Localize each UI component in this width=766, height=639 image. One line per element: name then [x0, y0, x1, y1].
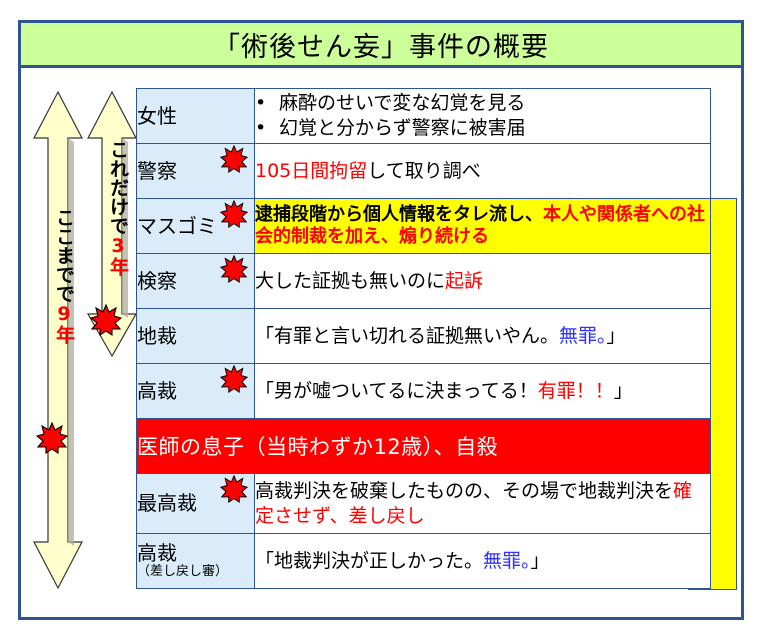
table-row: 最高裁高裁判決を破棄したものの、その場で地裁判決を確定させず、差し戻し — [137, 474, 711, 534]
table-row: 警察105日間拘留して取り調べ — [137, 144, 711, 199]
table-row: 高裁「男が嘘ついてるに決まってる！有罪！！」 — [137, 364, 711, 419]
text-segment: 「有罪と言い切れる証拠無いやん。 — [255, 325, 559, 347]
text-segment: 逮捕段階から個人情報をタレ流し、 — [255, 204, 543, 225]
text-segment: 」 — [607, 325, 626, 347]
row-content: 「地裁判決が正しかった。無罪。」 — [255, 534, 711, 589]
text-segment: 無罪。 — [483, 550, 531, 572]
title-band: 「術後せん妄」事件の概要 — [21, 23, 741, 68]
infographic-root: 「術後せん妄」事件の概要 ここまでで9年 これだけで3年 女性•麻酔のせいで変な… — [0, 0, 766, 639]
text-segment: 有罪！！ — [538, 380, 614, 402]
case-timeline-table: 女性•麻酔のせいで変な幻覚を見る•幻覚と分からず警察に被害届警察105日間拘留し… — [136, 88, 711, 589]
row-label-main: 高裁 — [137, 542, 254, 565]
table-row: 医師の息子（当時わずか12歳）、自殺 — [137, 419, 711, 474]
row-label-main: 最高裁 — [137, 492, 254, 515]
row-content: 逮捕段階から個人情報をタレ流し、本人や関係者への社会的制裁を加え、煽り続ける — [255, 199, 711, 254]
this-alone-label-number: 3 — [107, 235, 129, 257]
row-label-sub: （差し戻し審） — [137, 565, 254, 579]
text-segment: 無罪。 — [559, 325, 607, 347]
row-content: 高裁判決を破棄したものの、その場で地裁判決を確定させず、差し戻し — [255, 474, 711, 534]
page-title: 「術後せん妄」事件の概要 — [213, 25, 549, 64]
text-segment: 大した証拠も無いのに — [255, 270, 445, 292]
row-label-main: 女性 — [137, 105, 254, 128]
bullet-text: 幻覚と分からず警察に被害届 — [279, 117, 526, 139]
text-segment: 105日間拘留 — [255, 160, 367, 182]
row-label-main: 地裁 — [137, 325, 254, 348]
row-label-女性: 女性 — [137, 89, 255, 144]
text-segment: 高裁判決を破棄したものの、その場で地裁判決を — [255, 480, 673, 502]
table-row: 高裁（差し戻し審）「地裁判決が正しかった。無罪。」 — [137, 534, 711, 589]
text-segment: 起訴 — [445, 270, 483, 292]
row-label-高裁: 高裁（差し戻し審） — [137, 534, 255, 589]
row-label-マスゴミ: マスゴミ — [137, 199, 255, 254]
row-content: •麻酔のせいで変な幻覚を見る•幻覚と分からず警察に被害届 — [255, 89, 711, 144]
bullet-marker: • — [255, 116, 279, 141]
case-timeline-body: 女性•麻酔のせいで変な幻覚を見る•幻覚と分からず警察に被害届警察105日間拘留し… — [137, 89, 711, 589]
row-content: 大した証拠も無いのに起訴 — [255, 254, 711, 309]
this-alone-3-years-label: これだけで3年 — [97, 140, 127, 276]
bullet-text: 麻酔のせいで変な幻覚を見る — [279, 92, 525, 114]
table-row: 検察大した証拠も無いのに起訴 — [137, 254, 711, 309]
table-row: 女性•麻酔のせいで変な幻覚を見る•幻覚と分からず警察に被害届 — [137, 89, 711, 144]
this-alone-label-suffix: 年 — [107, 257, 129, 276]
bullet-item: •幻覚と分からず警察に被害届 — [255, 116, 710, 141]
row-content: 「有罪と言い切れる証拠無いやん。無罪。」 — [255, 309, 711, 364]
table-row: 地裁「有罪と言い切れる証拠無いやん。無罪。」 — [137, 309, 711, 364]
cumulative-label-suffix: 年 — [53, 325, 75, 344]
cumulative-label-number: 9 — [53, 303, 75, 325]
row-label-main: 検察 — [137, 270, 254, 293]
row-content: 「男が嘘ついてるに決まってる！有罪！！」 — [255, 364, 711, 419]
row-label-main: マスゴミ — [137, 215, 254, 238]
text-segment: して取り調べ — [367, 160, 480, 182]
this-alone-burst-icon — [90, 304, 122, 336]
text-segment: 」 — [614, 380, 633, 402]
text-segment: 「男が嘘ついてるに決まってる！ — [255, 380, 538, 402]
cumulative-label-prefix: ここまでで — [53, 208, 75, 303]
this-alone-label-prefix: これだけで — [107, 140, 129, 235]
cumulative-9-years-label: ここまでで9年 — [43, 208, 73, 344]
row-label-検察: 検察 — [137, 254, 255, 309]
suicide-banner: 医師の息子（当時わずか12歳）、自殺 — [137, 419, 711, 474]
text-segment: 」 — [531, 550, 550, 572]
bullet-item: •麻酔のせいで変な幻覚を見る — [255, 91, 710, 116]
row-label-警察: 警察 — [137, 144, 255, 199]
row-label-地裁: 地裁 — [137, 309, 255, 364]
text-segment: 「地裁判決が正しかった。 — [255, 550, 483, 572]
row-content: 105日間拘留して取り調べ — [255, 144, 711, 199]
table-row: マスゴミ逮捕段階から個人情報をタレ流し、本人や関係者への社会的制裁を加え、煽り続… — [137, 199, 711, 254]
row-label-高裁: 高裁 — [137, 364, 255, 419]
row-label-main: 高裁 — [137, 380, 254, 403]
row-label-最高裁: 最高裁 — [137, 474, 255, 534]
cumulative-burst-icon — [36, 422, 68, 454]
bullet-marker: • — [255, 91, 279, 116]
row-label-main: 警察 — [137, 160, 254, 183]
